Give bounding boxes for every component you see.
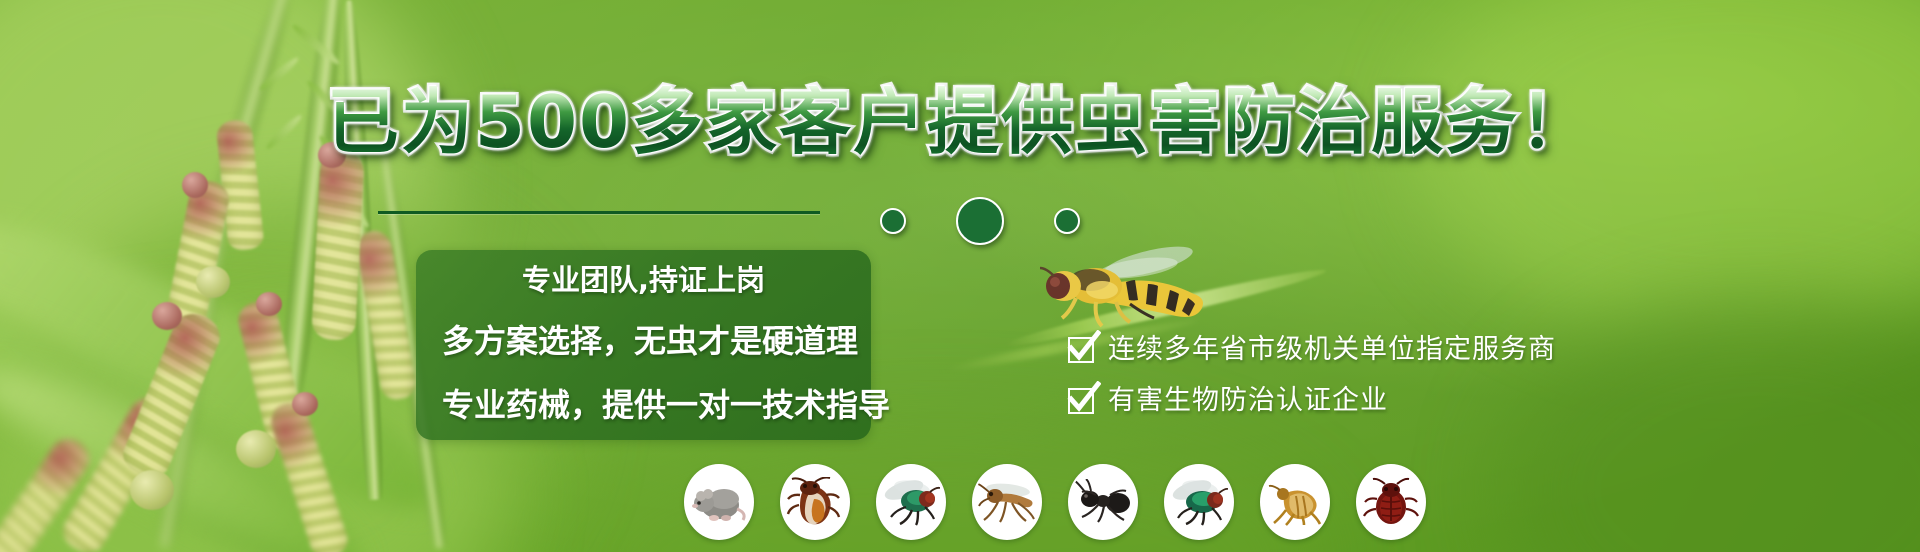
feature-panel: 专业团队,持证上岗 多方案选择，无虫才是硬道理 专业药械，提供一对一技术指导	[416, 250, 871, 440]
credential-checklist: 连续多年省市级机关单位指定服务商 有害生物防治认证企业	[1068, 336, 1556, 414]
pest-control-banner: 已为500多家客户提供虫害防治服务！ 已为500多家客户提供虫害防治服务！ 专业…	[0, 0, 1920, 552]
checklist-item: 有害生物防治认证企业	[1068, 387, 1556, 414]
checkmark-icon	[1068, 337, 1094, 363]
feature-line-1: 专业团队,持证上岗	[442, 252, 845, 308]
dot-small-right-icon	[1054, 208, 1080, 234]
fly-icon[interactable]	[876, 464, 946, 540]
pest-icon-row	[684, 464, 1426, 540]
checkmark-icon	[1068, 388, 1094, 414]
feature-line-2: 多方案选择，无虫才是硬道理	[442, 310, 845, 372]
bedbug-icon[interactable]	[1356, 464, 1426, 540]
checklist-item-label: 有害生物防治认证企业	[1108, 387, 1388, 414]
page-title: 已为500多家客户提供虫害防治服务！	[0, 86, 1920, 158]
decorative-dots	[880, 196, 1080, 246]
rat-icon[interactable]	[684, 464, 754, 540]
feature-line-3: 专业药械，提供一对一技术指导	[442, 374, 845, 436]
dot-small-left-icon	[880, 208, 906, 234]
cockroach-icon[interactable]	[780, 464, 850, 540]
checklist-item-label: 连续多年省市级机关单位指定服务商	[1108, 336, 1556, 363]
mosquito-icon[interactable]	[972, 464, 1042, 540]
flea-icon[interactable]	[1260, 464, 1330, 540]
dot-large-center-icon	[956, 197, 1004, 245]
divider-rule	[378, 211, 820, 214]
checklist-item: 连续多年省市级机关单位指定服务商	[1068, 336, 1556, 363]
blowfly-icon[interactable]	[1164, 464, 1234, 540]
ant-icon[interactable]	[1068, 464, 1138, 540]
